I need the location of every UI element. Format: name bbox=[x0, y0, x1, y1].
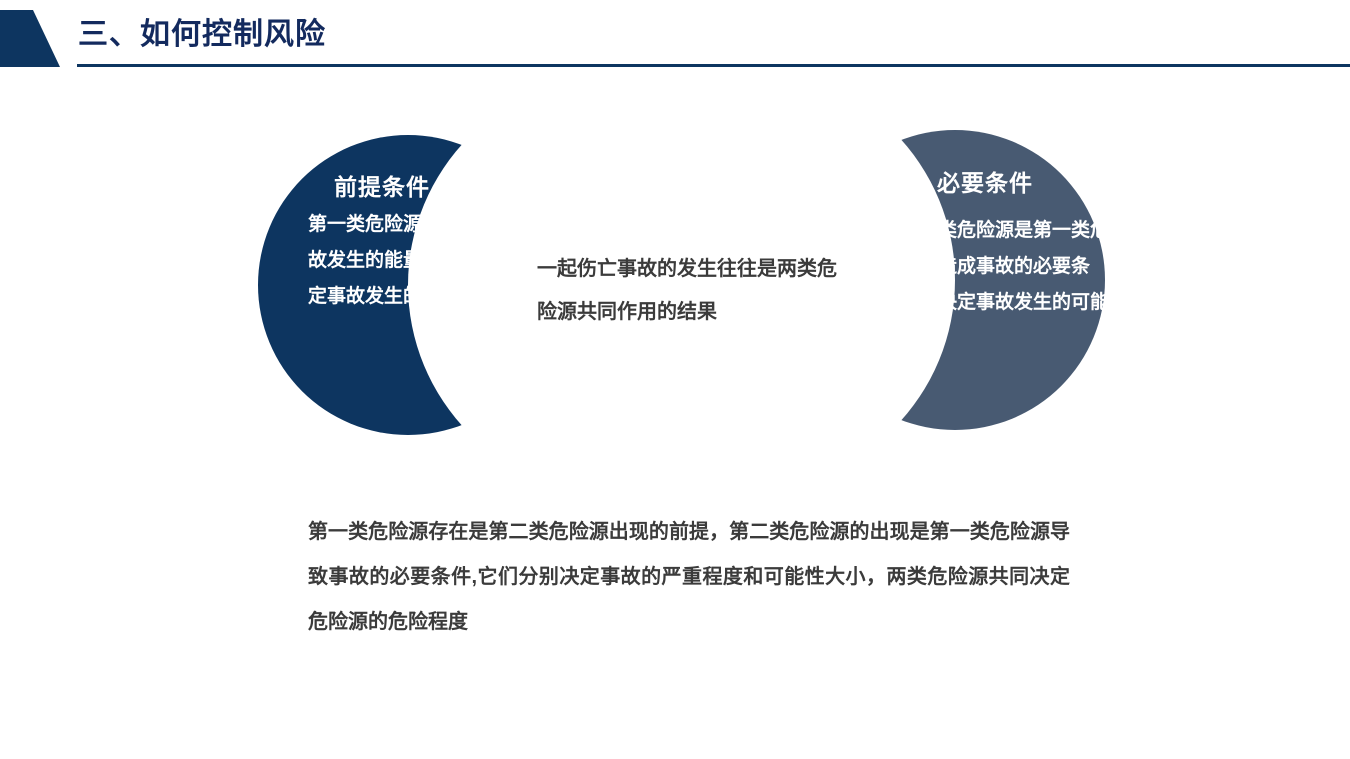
left-crescent-shape bbox=[258, 135, 558, 435]
two-hazard-source-diagram: 前提条件 第一类危险源是伤亡事故发生的能量主体，决定事故发生的严重程度 必要条件… bbox=[0, 0, 1350, 470]
right-crescent-shape bbox=[805, 130, 1105, 430]
center-text: 一起伤亡事故的发生往往是两类危险源共同作用的结果 bbox=[537, 248, 837, 334]
summary-paragraph: 第一类危险源存在是第二类危险源出现的前提，第二类危险源的出现是第一类危险源导致事… bbox=[308, 510, 1070, 645]
